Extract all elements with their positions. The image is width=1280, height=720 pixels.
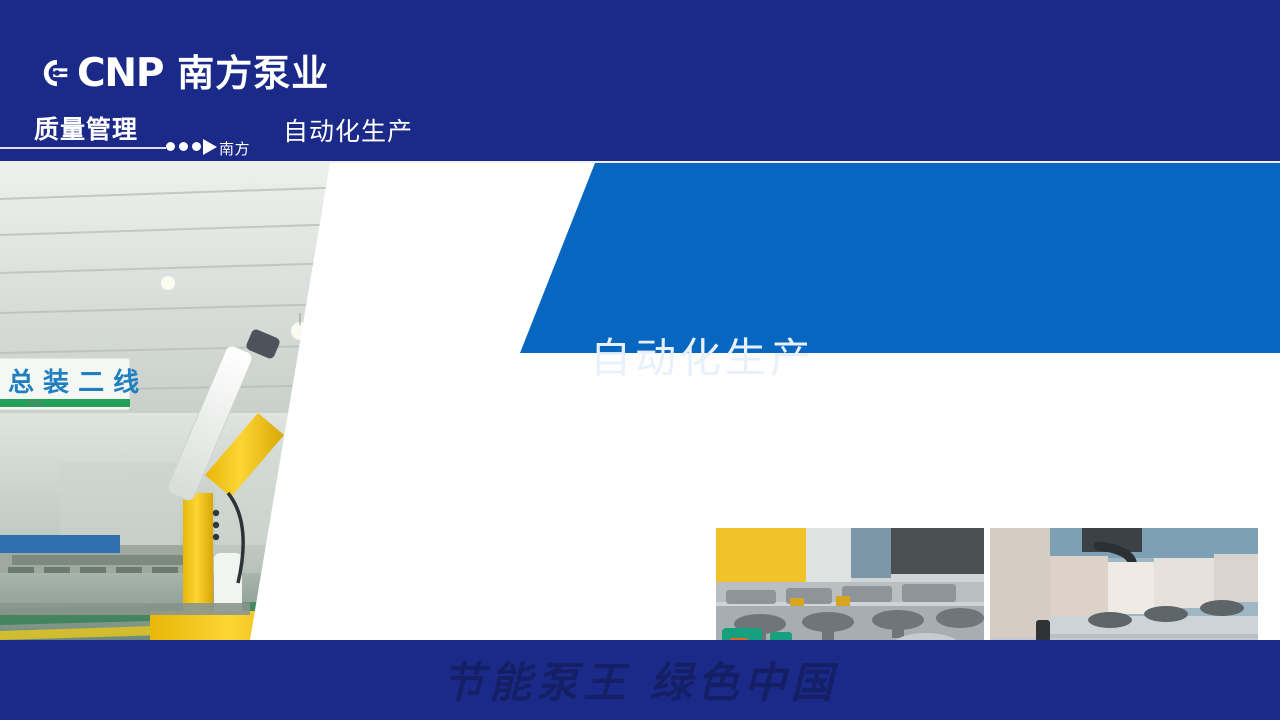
breadcrumb-label: 南方 xyxy=(219,138,250,159)
svg-text:立式泵: 立式泵 xyxy=(26,400,44,408)
info-panel xyxy=(520,163,1280,353)
panel-title: 自动化生产 xyxy=(590,338,815,379)
breadcrumb-dots-icon xyxy=(166,142,201,151)
cnp-logo-mark-icon xyxy=(42,58,72,88)
breadcrumb: 南方 xyxy=(0,136,270,162)
brand-chinese-text: 南方泵业 xyxy=(177,55,329,92)
breadcrumb-rule xyxy=(0,147,166,149)
footer-slogan: 节能泵王 绿色中国 xyxy=(0,648,1280,709)
gallery-photo-parts-line[interactable] xyxy=(716,528,984,640)
slide-header: CNP 南方泵业 质量管理 自动化生产 南方 xyxy=(0,0,1280,163)
slide-root: CNP 南方泵业 质量管理 自动化生产 南方 xyxy=(0,0,1280,720)
slide-body: 总 装 二 线 立式泵 xyxy=(0,163,1280,640)
gallery-photo-robot-station[interactable] xyxy=(990,528,1258,640)
brand-logo[interactable]: CNP 南方泵业 xyxy=(42,50,329,96)
svg-text:总 装 二 线: 总 装 二 线 xyxy=(8,368,139,398)
breadcrumb-arrow-icon xyxy=(203,139,217,155)
nav-current-item[interactable]: 自动化生产 xyxy=(283,112,413,148)
panel-body-text: 如今的南方泵业，将自动化技术覆盖到零部件加工生产、整泵装配调试、出厂检验等诸多环… xyxy=(592,403,987,466)
slide-footer: 节能泵王 绿色中国 xyxy=(0,640,1280,720)
brand-latin-text: CNP xyxy=(77,54,163,93)
